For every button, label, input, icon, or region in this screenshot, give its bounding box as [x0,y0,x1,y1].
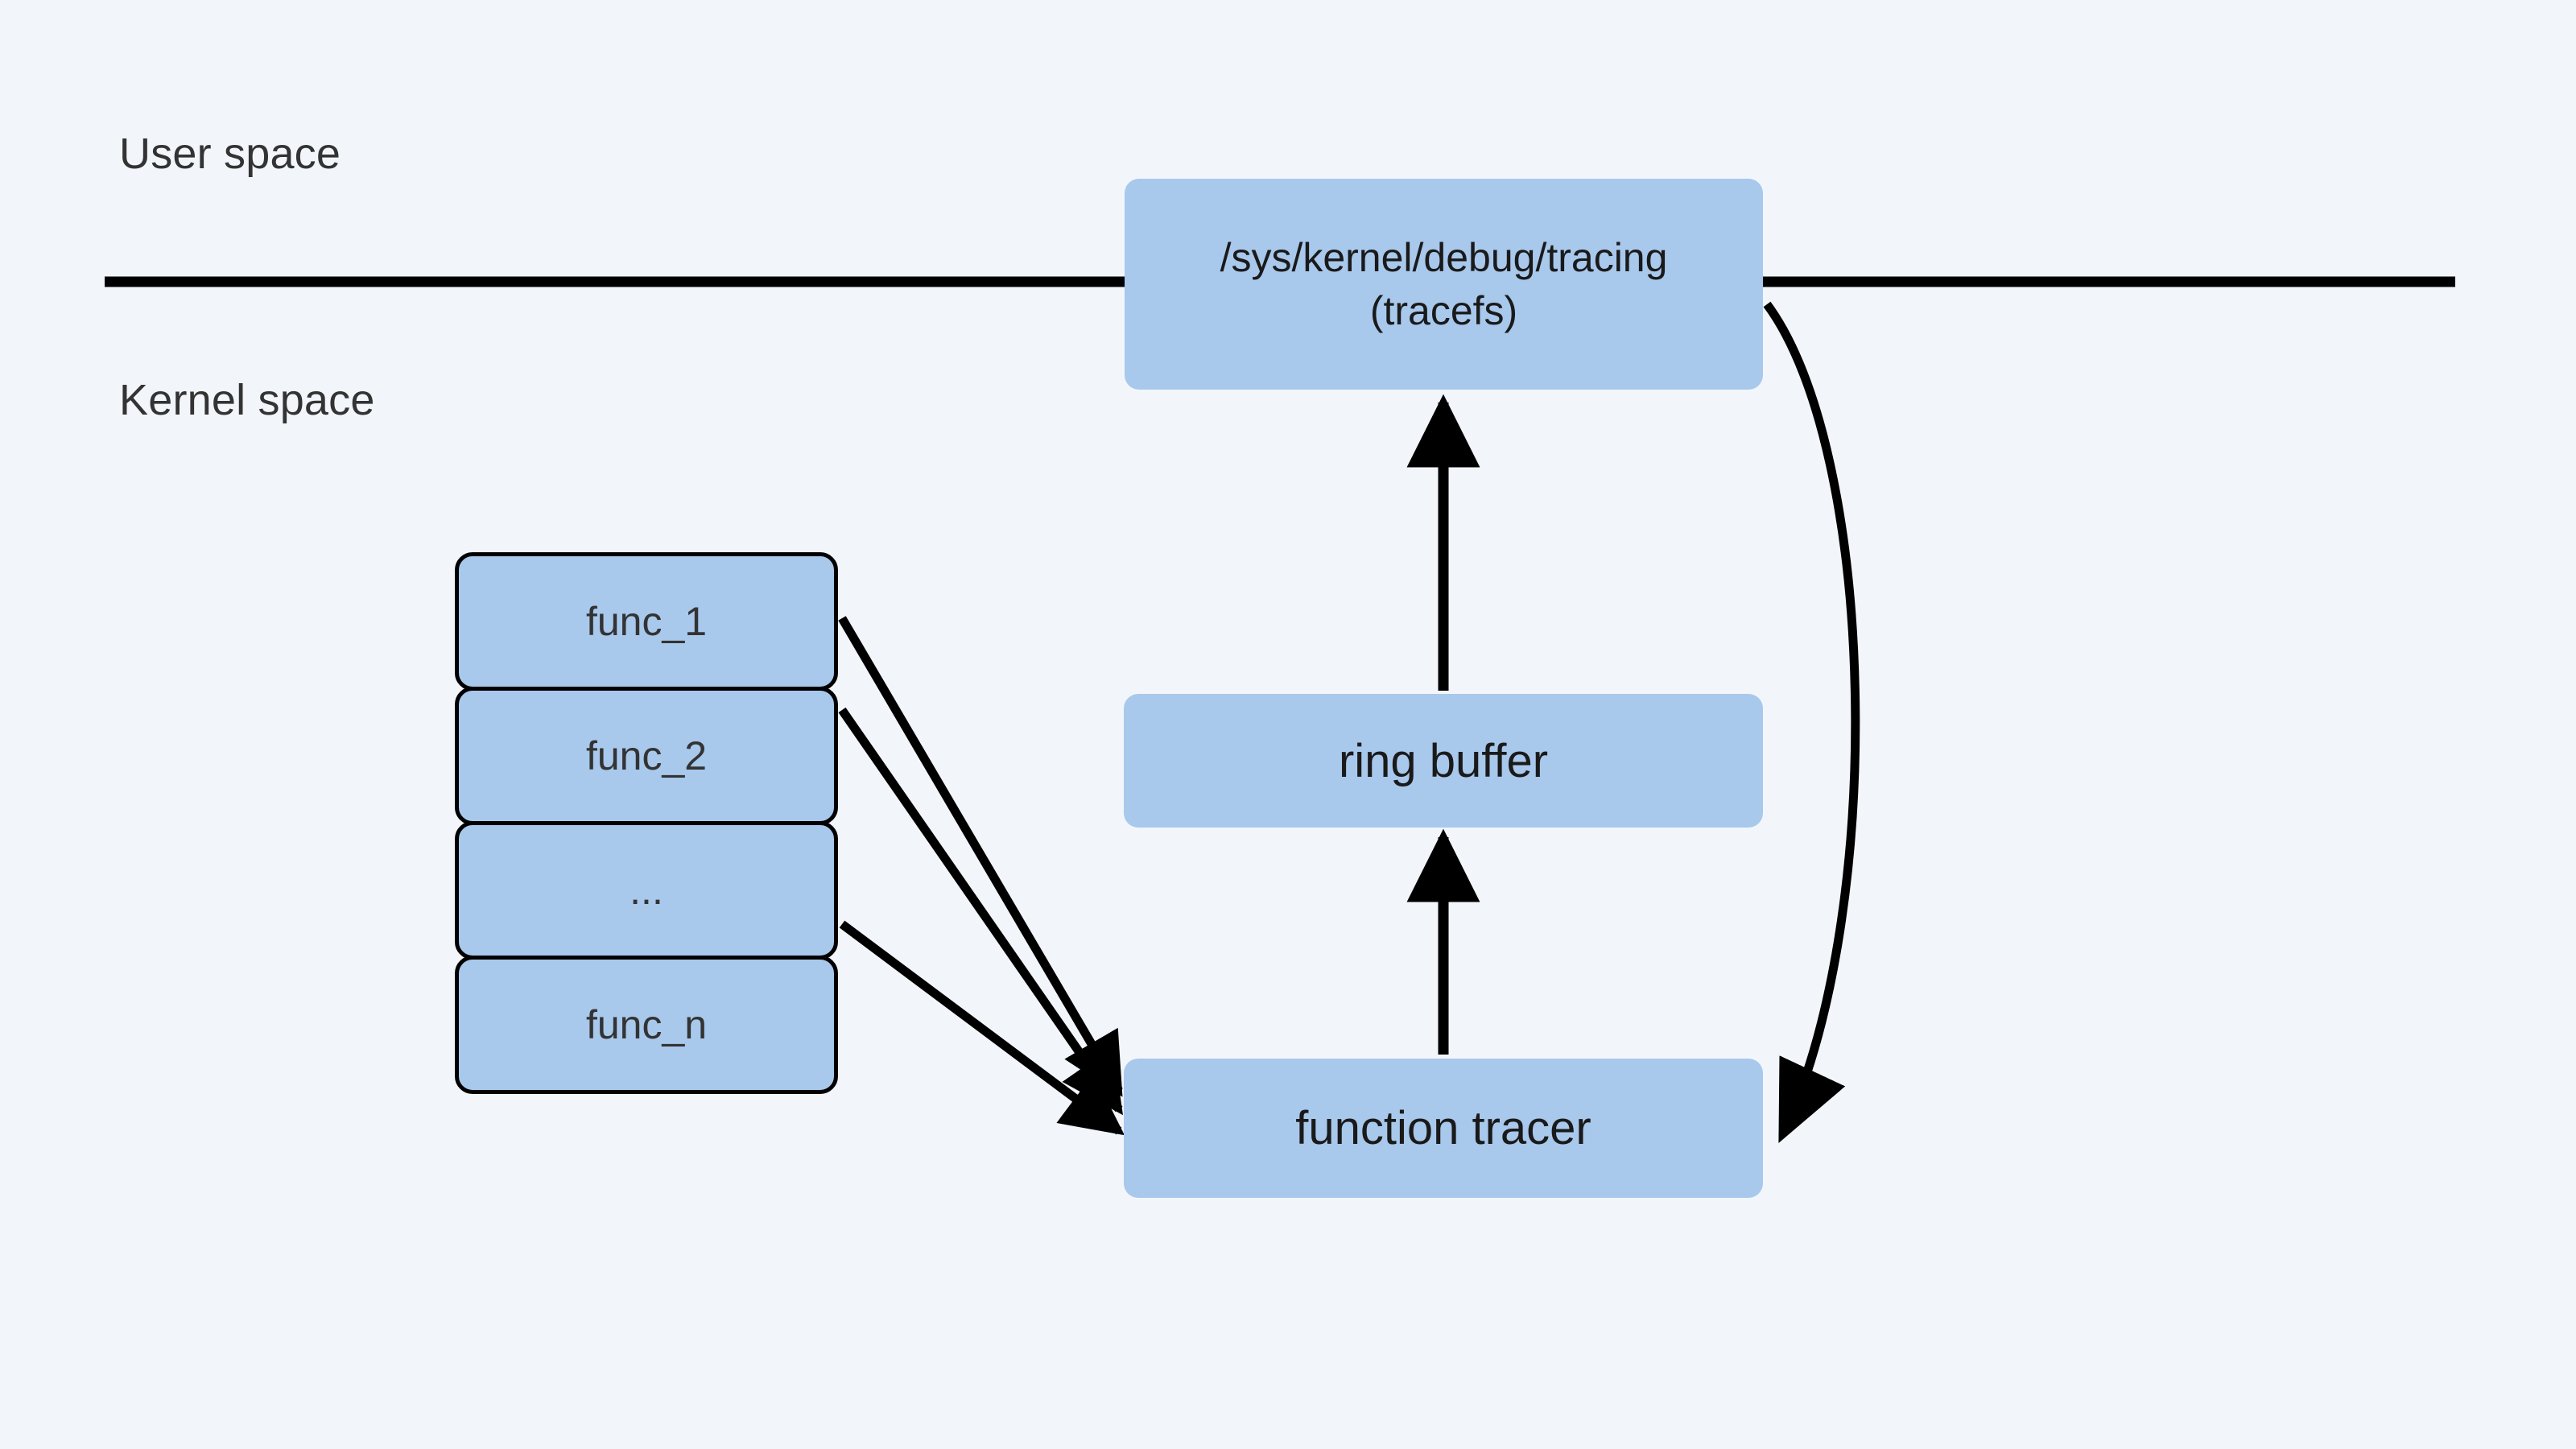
node-ring-buffer[interactable]: ring buffer [1124,694,1763,828]
edge-func1-to-tracer [842,618,1119,1091]
func-box-ellipsis-label: ... [630,867,663,914]
diagram-canvas: User space Kernel space /sys/kernel/debu… [0,0,2576,1449]
edge-funcn-to-tracer [842,924,1119,1131]
func-box-n[interactable]: func_n [455,956,838,1094]
func-box-2-label: func_2 [586,733,707,779]
function-stack: func_1 func_2 ... func_n [455,552,838,1094]
node-function-tracer[interactable]: function tracer [1124,1059,1763,1198]
edge-tracefs-to-tracer-curved [1767,304,1856,1133]
user-space-label: User space [119,129,341,179]
node-tracefs-fsname: (tracefs) [1370,285,1517,336]
func-box-ellipsis[interactable]: ... [455,821,838,960]
node-tracefs[interactable]: /sys/kernel/debug/tracing (tracefs) [1125,179,1763,390]
func-box-1[interactable]: func_1 [455,552,838,691]
func-box-n-label: func_n [586,1001,707,1048]
edge-func2-to-tracer [842,710,1119,1109]
func-box-2[interactable]: func_2 [455,687,838,825]
node-function-tracer-label: function tracer [1295,1101,1591,1155]
node-tracefs-path: /sys/kernel/debug/tracing [1220,232,1668,283]
node-ring-buffer-label: ring buffer [1339,734,1548,788]
func-box-1-label: func_1 [586,598,707,645]
kernel-space-label: Kernel space [119,375,375,425]
